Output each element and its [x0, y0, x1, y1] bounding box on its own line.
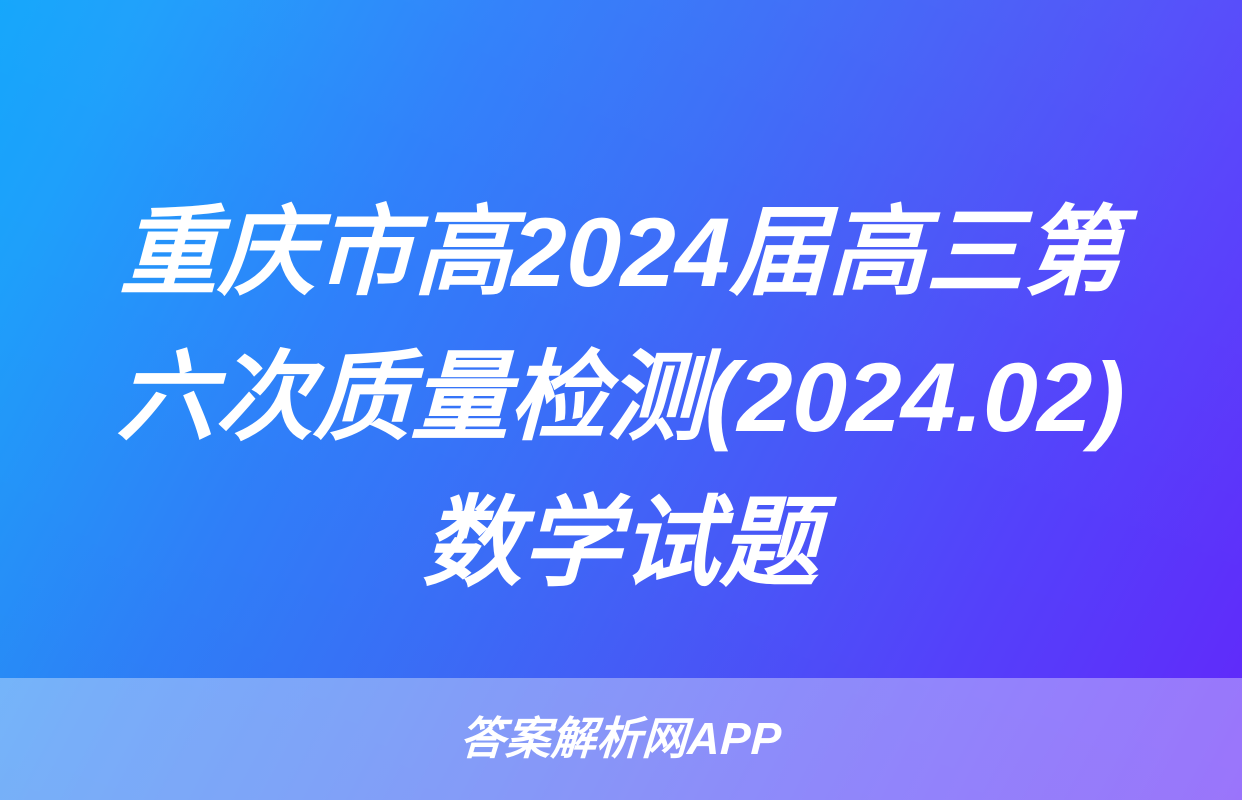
title-line-1: 重庆市高2024届高三第 [33, 180, 1210, 325]
watermark-label: 答案解析网APP [459, 716, 783, 761]
page-title: 重庆市高2024届高三第 六次质量检测(2024.02) 数学试题 [0, 180, 1242, 615]
watermark-band: 答案解析网APP [0, 678, 1242, 800]
exam-title-card: 重庆市高2024届高三第 六次质量检测(2024.02) 数学试题 答案解析网A… [0, 0, 1242, 800]
title-line-2: 六次质量检测(2024.02) [33, 325, 1210, 470]
title-line-3: 数学试题 [33, 470, 1210, 615]
